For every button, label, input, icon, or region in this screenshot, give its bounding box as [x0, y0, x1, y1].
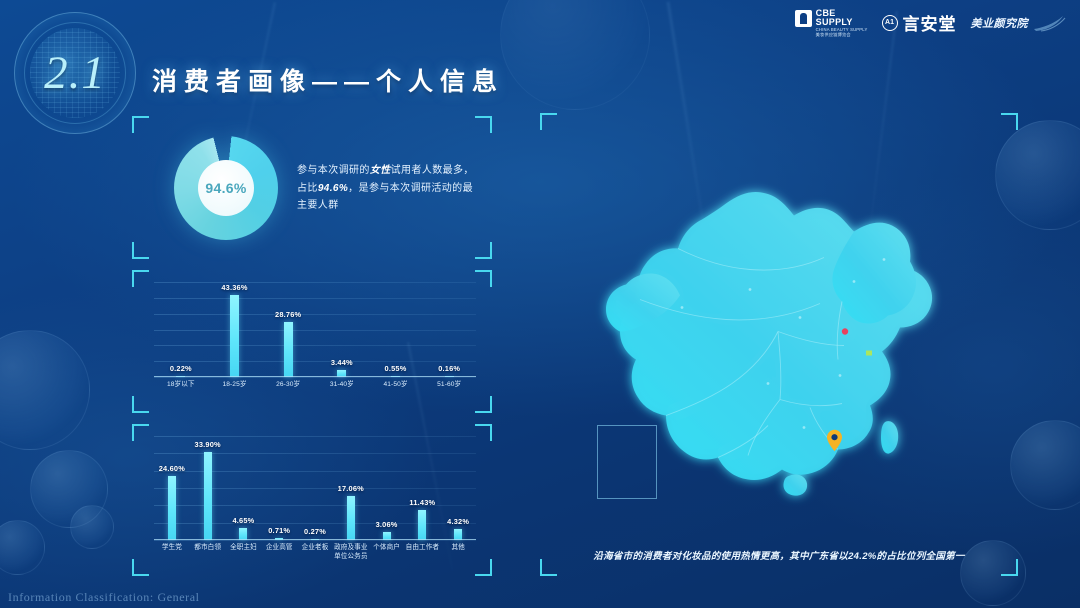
occupation-chart-bars: 24.60%33.90%4.65%0.71%0.27%17.06%3.06%11…	[154, 436, 476, 540]
bar-column[interactable]: 28.76%	[261, 282, 315, 377]
bokeh-bubble	[0, 330, 90, 450]
donut-center-value: 94.6%	[205, 180, 246, 196]
institute-name: 美业颜究院	[971, 15, 1029, 31]
bar[interactable]	[284, 322, 293, 377]
bar-column[interactable]: 0.16%	[422, 282, 476, 377]
bar[interactable]	[347, 496, 355, 540]
location-pin-icon	[826, 429, 843, 452]
bar-value-label: 28.76%	[256, 310, 320, 319]
age-bar-chart: 0.22%43.36%28.76%3.44%0.55%0.16% 18岁以下18…	[154, 282, 476, 403]
bar-column[interactable]: 3.06%	[369, 436, 405, 540]
bokeh-bubble	[1010, 420, 1080, 510]
panel-corner-bl	[540, 559, 557, 576]
bar-category-label: 企业老板	[297, 540, 333, 566]
bar-column[interactable]: 24.60%	[154, 436, 190, 540]
bar-category-label: 都市白领	[190, 540, 226, 566]
panel-corner-tl	[132, 116, 149, 133]
panel-corner-tr	[475, 270, 492, 287]
bar-category-label: 51-60岁	[422, 377, 476, 403]
panel-corner-br	[475, 242, 492, 259]
gender-panel: 94.6% 参与本次调研的女性试用者人数最多，占比94.6%，是参与本次调研活动…	[132, 116, 492, 259]
bokeh-bubble	[70, 505, 114, 549]
bar-category-label: 18岁以下	[154, 377, 208, 403]
bar-category-label: 26-30岁	[261, 377, 315, 403]
bar[interactable]	[230, 295, 239, 377]
bokeh-bubble	[0, 520, 45, 575]
south-china-sea-inset	[597, 425, 657, 499]
section-number-emblem: 2.1	[14, 12, 136, 134]
bar-value-label: 4.32%	[426, 517, 490, 526]
institute-logo: 美业颜究院	[971, 14, 1067, 32]
bar[interactable]	[168, 476, 176, 540]
gender-note-text: 参与本次调研的女性试用者人数最多，占比94.6%，是参与本次调研活动的最主要人群	[297, 162, 477, 215]
bar-category-label: 自由工作者	[404, 540, 440, 566]
occupation-chart-xlabels: 学生党都市白领全职主妇企业高管企业老板政府及事业单位公务员个体商户自由工作者其他	[154, 540, 476, 566]
bar-category-label: 政府及事业单位公务员	[333, 540, 369, 566]
bokeh-bubble	[500, 0, 650, 110]
age-chart-xlabels: 18岁以下18-25岁26-30岁31-40岁41-50岁51-60岁	[154, 377, 476, 403]
panel-corner-tr	[475, 116, 492, 133]
panel-corner-bl	[132, 396, 149, 413]
panel-corner-tr	[475, 424, 492, 441]
gender-donut-chart: 94.6%	[174, 136, 278, 240]
bar-column[interactable]: 43.36%	[208, 282, 262, 377]
panel-corner-bl	[132, 559, 149, 576]
cbe-supply-logo: CBE SUPPLY CHINA BEAUTY SUPPLY 美妆供应链博览会	[795, 9, 868, 37]
yanantang-badge-icon: A1	[882, 15, 898, 31]
occupation-bar-chart: 24.60%33.90%4.65%0.71%0.27%17.06%3.06%11…	[154, 436, 476, 566]
note-highlight-pct: 94.6%	[318, 183, 348, 194]
section-number: 2.1	[14, 12, 136, 134]
china-map-panel: 沿海省市的消费者对化妆品的使用热情更高，其中广东省以24.2%的占比位列全国第一	[540, 113, 1018, 576]
cbe-mark-icon	[795, 10, 812, 27]
bar-column[interactable]: 3.44%	[315, 282, 369, 377]
bar-column[interactable]: 4.65%	[226, 436, 262, 540]
bar-category-label: 全职主妇	[226, 540, 262, 566]
logo-bar: CBE SUPPLY CHINA BEAUTY SUPPLY 美妆供应链博览会 …	[795, 9, 1066, 37]
cbe-logo-line4: 美妆供应链博览会	[816, 33, 868, 37]
occupation-distribution-panel: 24.60%33.90%4.65%0.71%0.27%17.06%3.06%11…	[132, 424, 492, 576]
panel-corner-bl	[132, 242, 149, 259]
map-caption: 沿海省市的消费者对化妆品的使用热情更高，其中广东省以24.2%的占比位列全国第一	[558, 548, 1000, 562]
bar-category-label: 31-40岁	[315, 377, 369, 403]
panel-corner-br	[1001, 559, 1018, 576]
swoosh-icon	[1032, 14, 1066, 32]
cbe-logo-line2: SUPPLY	[816, 18, 868, 27]
bar-column[interactable]: 0.22%	[154, 282, 208, 377]
panel-corner-tl	[132, 270, 149, 287]
bar-category-label: 学生党	[154, 540, 190, 566]
age-distribution-panel: 0.22%43.36%28.76%3.44%0.55%0.16% 18岁以下18…	[132, 270, 492, 413]
bar-category-label: 企业高管	[261, 540, 297, 566]
bar-category-label: 41-50岁	[369, 377, 423, 403]
panel-corner-br	[475, 559, 492, 576]
note-prefix: 参与本次调研的	[297, 165, 370, 176]
age-chart-bars: 0.22%43.36%28.76%3.44%0.55%0.16%	[154, 282, 476, 377]
bar[interactable]	[204, 452, 212, 540]
bokeh-bubble	[30, 450, 108, 528]
bar-value-label: 43.36%	[203, 283, 267, 292]
map-area	[554, 127, 1004, 532]
bar-category-label: 18-25岁	[208, 377, 262, 403]
page-title: 消费者画像——个人信息	[152, 62, 504, 98]
bar-column[interactable]: 0.71%	[261, 436, 297, 540]
yanantang-logo: A1 言安堂	[882, 10, 957, 35]
bar-value-label: 0.22%	[149, 364, 213, 373]
slide-canvas: 2.1 消费者画像——个人信息 CBE SUPPLY CHINA BEAUTY …	[0, 0, 1080, 608]
donut-ring: 94.6%	[174, 136, 278, 240]
bar-column[interactable]: 4.32%	[440, 436, 476, 540]
panel-corner-br	[475, 396, 492, 413]
footer-classification: Information Classification: General	[8, 590, 200, 605]
bar-value-label: 0.16%	[417, 364, 481, 373]
note-highlight-female: 女性	[370, 165, 391, 176]
yanantang-name: 言安堂	[903, 10, 957, 35]
bar-column[interactable]: 0.55%	[369, 282, 423, 377]
panel-corner-tl	[132, 424, 149, 441]
donut-center: 94.6%	[198, 160, 254, 216]
bar-category-label: 个体商户	[369, 540, 405, 566]
bar-category-label: 其他	[440, 540, 476, 566]
